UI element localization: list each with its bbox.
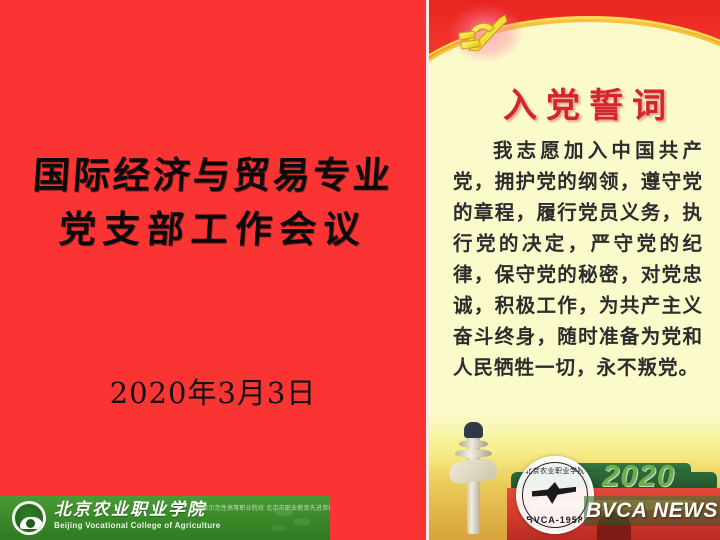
bvca-news-label-box: BVCA NEWS <box>584 496 720 526</box>
bvca-seal-arc-bottom: BVCA-1958 <box>518 515 592 525</box>
title-line-2: 党支部工作会议 <box>0 202 428 256</box>
oath-header-band <box>429 0 720 84</box>
oath-body-text: 我志愿加入中国共产党，拥护党的纲领，遵守党的章程，履行党员义务，执行党的决定，严… <box>453 135 703 383</box>
bvca-seal-arc-top: 北京农业职业学院 <box>518 466 592 476</box>
title-line-1: 国际经济与贸易专业 <box>0 148 428 202</box>
presentation-slide: 国际经济与贸易专业 党支部工作会议 2020年3月3日 北京农业职业学院 Bei… <box>0 0 720 540</box>
left-title-panel: 国际经济与贸易专业 党支部工作会议 2020年3月3日 北京农业职业学院 Bei… <box>0 0 426 540</box>
college-name-en: Beijing Vocational College of Agricultur… <box>54 520 221 532</box>
party-hammer-sickle-icon <box>455 10 517 56</box>
college-tagline: 国家示范性高等职业院校 北京市职业教育先进单位 <box>196 504 316 513</box>
slide-title: 国际经济与贸易专业 党支部工作会议 <box>0 148 426 256</box>
oath-title: 入党誓词 <box>429 78 720 127</box>
bvca-year-label: 2020 <box>602 458 675 494</box>
huabiao-column-icon <box>451 418 497 534</box>
college-seal-icon <box>12 501 46 535</box>
college-banner: 北京农业职业学院 Beijing Vocational College of A… <box>0 496 330 540</box>
bvca-news-badge: 北京农业职业学院 BVCA-1958 2020 BVCA NEWS <box>510 452 720 536</box>
slide-date: 2020年3月3日 <box>0 370 426 412</box>
bvca-news-label: BVCA NEWS <box>586 499 718 523</box>
bvca-seal-icon: 北京农业职业学院 BVCA-1958 <box>516 456 594 534</box>
